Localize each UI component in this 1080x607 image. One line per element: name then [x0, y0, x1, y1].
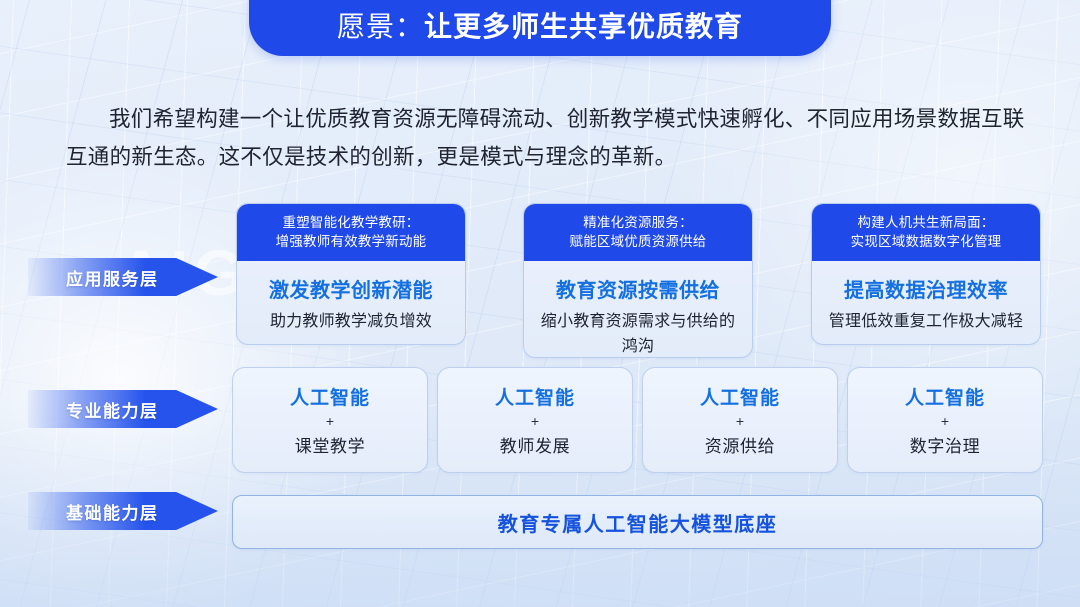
capability-card-title: 人工智能 [700, 383, 780, 410]
page-title-emphasis: 让更多师生共享优质教育 [424, 11, 743, 42]
application-card-subline: 助力教师教学减负增效 [249, 309, 453, 334]
layer-tag-professional: 专业能力层 [28, 390, 218, 428]
capability-card: 人工智能 + 课堂教学 [232, 367, 428, 473]
capability-card: 人工智能 + 资源供给 [642, 367, 838, 473]
application-card-headline: 教育资源按需供给 [536, 274, 740, 303]
layer-tag-professional-label: 专业能力层 [66, 397, 159, 422]
application-card: 精准化资源服务： 赋能区域优质资源供给 教育资源按需供给 缩小教育资源需求与供给… [523, 203, 753, 358]
layer-tag-application-label: 应用服务层 [66, 265, 159, 290]
title-banner: 愿景：让更多师生共享优质教育 [249, 0, 831, 56]
capability-card-subject: 教师发展 [500, 432, 570, 457]
application-card-header-line1: 精准化资源服务： [534, 213, 742, 232]
application-card-header-line2: 增强教师有效教学新动能 [247, 232, 455, 251]
application-card-header: 重塑智能化教学教研： 增强教师有效教学新动能 [237, 204, 465, 261]
application-card-body: 教育资源按需供给 缩小教育资源需求与供给的鸿沟 [524, 261, 752, 358]
application-card-headline: 提高数据治理效率 [824, 274, 1028, 303]
intro-paragraph: 我们希望构建一个让优质教育资源无障碍流动、创新教学模式快速孵化、不同应用场景数据… [66, 100, 1026, 176]
application-card-header: 构建人机共生新局面： 实现区域数据数字化管理 [812, 204, 1040, 261]
capability-card-subject: 课堂教学 [295, 432, 365, 457]
application-card: 重塑智能化教学教研： 增强教师有效教学新动能 激发教学创新潜能 助力教师教学减负… [236, 203, 466, 345]
capability-card-plus: + [326, 411, 334, 431]
slide-canvas: AIGC 愿景：让更多师生共享优质教育 我们希望构建一个让优质教育资源无障碍流动… [0, 0, 1080, 607]
capability-card-title: 人工智能 [905, 383, 985, 410]
application-card-header-line1: 构建人机共生新局面： [822, 213, 1030, 232]
capability-card-subject: 数字治理 [910, 432, 980, 457]
foundation-bar: 教育专属人工智能大模型底座 [232, 495, 1043, 549]
application-card-body: 激发教学创新潜能 助力教师教学减负增效 [237, 261, 465, 345]
capability-card-title: 人工智能 [495, 383, 575, 410]
page-title: 愿景：让更多师生共享优质教育 [337, 3, 743, 41]
capability-card-plus: + [941, 411, 949, 431]
capability-card-subject: 资源供给 [705, 432, 775, 457]
layer-tag-foundation: 基础能力层 [28, 492, 218, 530]
application-card-subline: 管理低效重复工作极大减轻 [824, 309, 1028, 334]
application-card-header-line2: 赋能区域优质资源供给 [534, 232, 742, 251]
application-card-subline: 缩小教育资源需求与供给的鸿沟 [536, 309, 740, 358]
foundation-bar-label: 教育专属人工智能大模型底座 [498, 508, 778, 537]
layer-tag-foundation-label: 基础能力层 [66, 499, 159, 524]
layer-tag-application: 应用服务层 [28, 258, 218, 296]
application-card-header: 精准化资源服务： 赋能区域优质资源供给 [524, 204, 752, 261]
page-title-lead: 愿景： [337, 11, 424, 42]
capability-card-plus: + [531, 411, 539, 431]
capability-card-plus: + [736, 411, 744, 431]
application-card-body: 提高数据治理效率 管理低效重复工作极大减轻 [812, 261, 1040, 345]
application-card-header-line1: 重塑智能化教学教研： [247, 213, 455, 232]
application-card: 构建人机共生新局面： 实现区域数据数字化管理 提高数据治理效率 管理低效重复工作… [811, 203, 1041, 345]
capability-card-title: 人工智能 [290, 383, 370, 410]
application-card-header-line2: 实现区域数据数字化管理 [822, 232, 1030, 251]
application-card-headline: 激发教学创新潜能 [249, 274, 453, 303]
capability-card: 人工智能 + 数字治理 [847, 367, 1043, 473]
capability-card: 人工智能 + 教师发展 [437, 367, 633, 473]
